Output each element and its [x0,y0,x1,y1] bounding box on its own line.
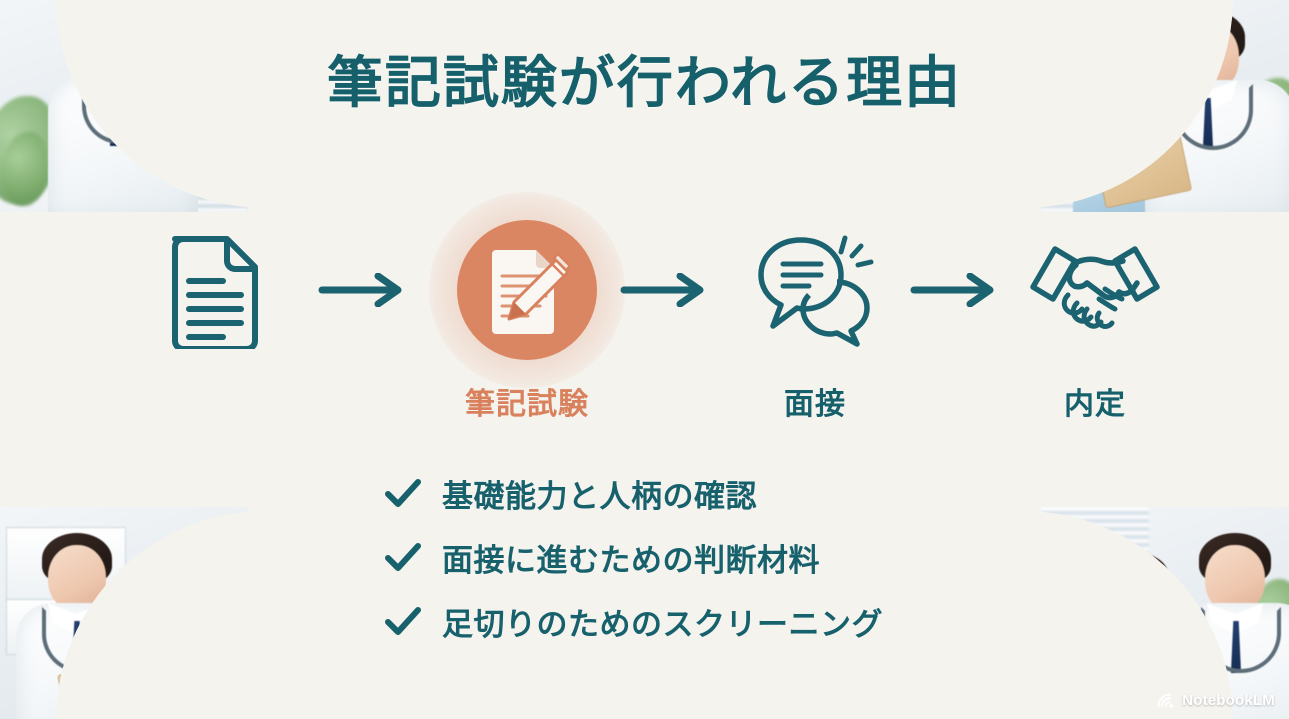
check-icon [384,542,422,572]
arrow-right-icon [620,273,712,307]
flow-step-label: 面接 [720,379,910,423]
document-icon [165,231,265,349]
arrow-right-icon [318,273,410,307]
page-title: 筆記試験が行われる理由 [0,52,1289,115]
document-pencil-icon [484,244,570,336]
check-icon [384,606,422,636]
flow-step-document [120,215,310,379]
list-item-label: 基礎能力と人柄の確認 [442,471,757,516]
notebooklm-icon [1157,693,1176,709]
slide-canvas: 筆記試験が行われる理由 [0,0,1289,719]
list-item-label: 面接に進むための判断材料 [442,535,820,580]
list-item: 面接に進むための判断材料 [384,536,1084,578]
sparkle-icon [841,238,871,265]
flow-step-label: 内定 [1000,379,1190,423]
highlight-circle [457,220,597,360]
list-item-label: 足切りのためのスクリーニング [442,599,883,644]
process-flow: 筆記試験 [120,215,1170,445]
arrow-right-icon [910,273,1002,307]
key-points-list: 基礎能力と人柄の確認 面接に進むための判断材料 足切りのためのスクリーニング [384,472,1084,664]
flow-step-interview: 面接 [720,215,910,423]
speech-bubbles-icon [753,232,877,348]
check-icon [384,478,422,508]
list-item: 基礎能力と人柄の確認 [384,472,1084,514]
handshake-icon [1027,237,1163,343]
notebooklm-watermark: NotebookLM [1157,692,1275,709]
corner-photo-bottom-left [0,507,248,719]
flow-step-written-exam: 筆記試験 [432,215,622,423]
list-item: 足切りのためのスクリーニング [384,600,1084,642]
watermark-label: NotebookLM [1182,692,1275,709]
flow-step-offer: 内定 [1000,215,1190,423]
